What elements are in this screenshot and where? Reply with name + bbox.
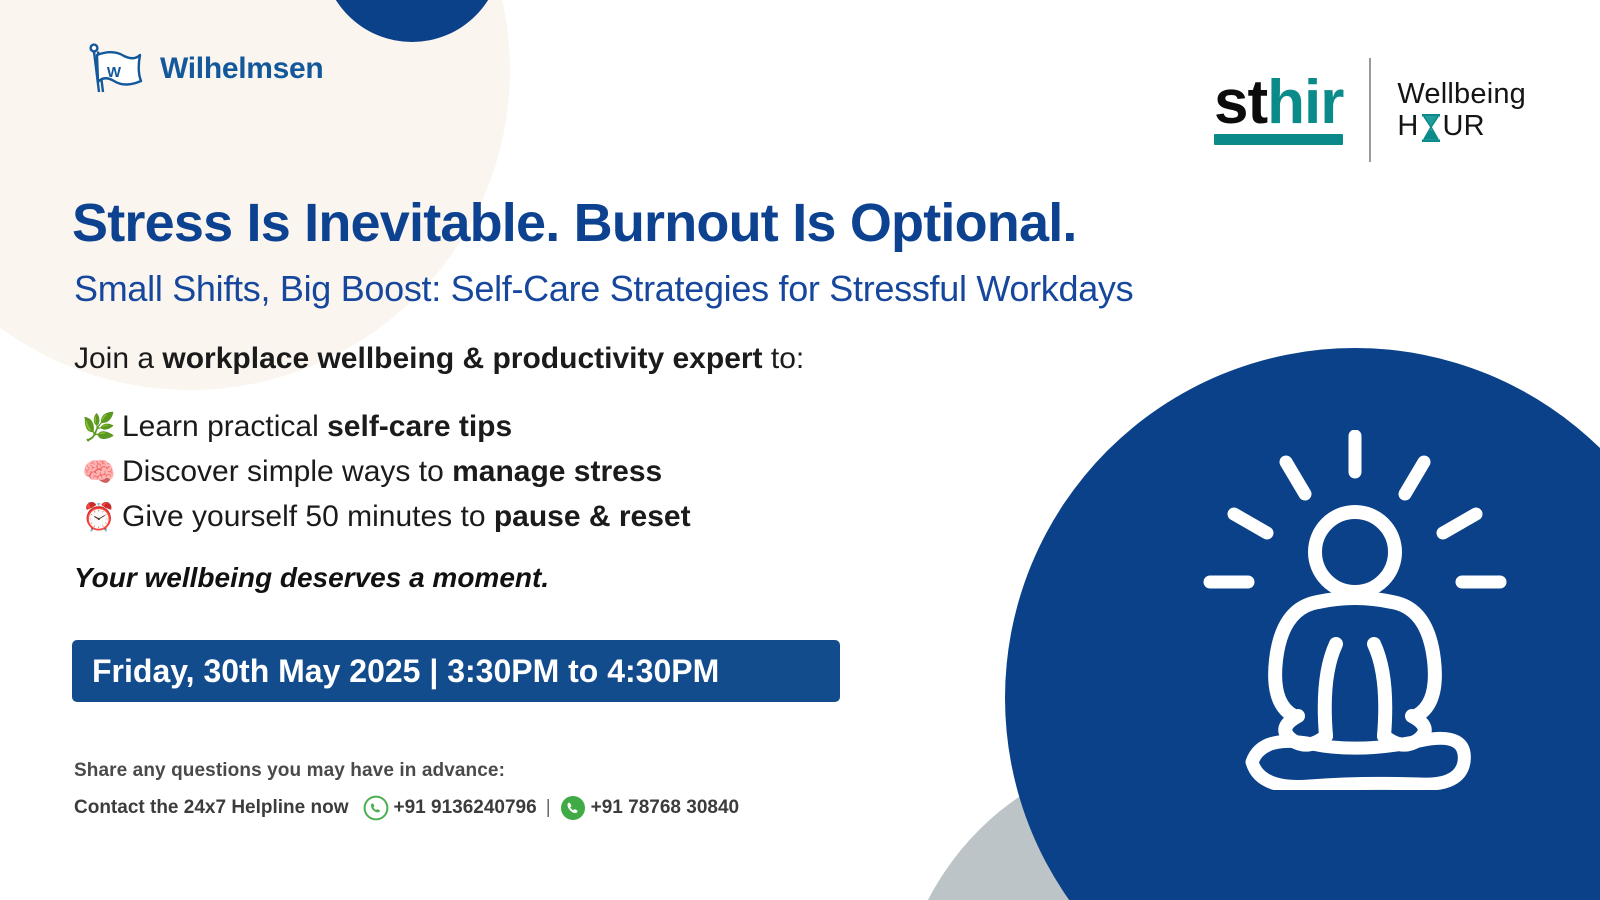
helpline-label: Contact the 24x7 Helpline now (74, 797, 349, 819)
phone-number[interactable]: +91 78768 30840 (591, 797, 739, 819)
phone-icon[interactable] (560, 795, 586, 821)
bullet-bold: manage stress (452, 455, 662, 488)
intro-suffix: to: (763, 342, 805, 375)
alarm-clock-emoji: ⏰ (82, 501, 112, 533)
event-datetime-text: Friday, 30th May 2025 | 3:30PM to 4:30PM (72, 653, 719, 690)
svg-text:W: W (107, 64, 122, 81)
hour-suffix: UR (1443, 110, 1485, 142)
bullet-bold: pause & reset (494, 500, 691, 533)
list-item: ⏰ Give yourself 50 minutes to pause & re… (82, 494, 691, 539)
list-item-text: Discover simple ways to manage stress (122, 455, 662, 489)
list-item-text: Learn practical self-care tips (122, 410, 512, 444)
wilhelmsen-wordmark: Wilhelmsen (160, 54, 323, 84)
herb-emoji: 🌿 (82, 411, 112, 443)
contact-separator: | (546, 797, 551, 819)
bullet-bold: self-care tips (327, 410, 512, 443)
list-item: 🧠 Discover simple ways to manage stress (82, 449, 691, 494)
footer-helpline-row: Contact the 24x7 Helpline now +91 913624… (74, 795, 739, 821)
benefit-list: 🌿 Learn practical self-care tips 🧠 Disco… (82, 404, 691, 539)
wilhelmsen-flag-icon: W (84, 38, 146, 100)
intro-prefix: Join a (74, 342, 162, 375)
sthir-word-part1: st (1214, 68, 1267, 137)
whatsapp-icon[interactable] (363, 795, 389, 821)
wellbeing-text: Wellbeing (1397, 78, 1526, 110)
bullet-prefix: Give yourself 50 minutes to (122, 500, 494, 533)
sthir-word-part2: hir (1267, 68, 1343, 137)
bullet-prefix: Discover simple ways to (122, 455, 452, 488)
sthir-wordmark: sthir (1214, 75, 1343, 145)
bullet-prefix: Learn practical (122, 410, 327, 443)
wilhelmsen-logo: W Wilhelmsen (84, 38, 323, 100)
page-title: Stress Is Inevitable. Burnout Is Optiona… (72, 192, 1077, 254)
brain-emoji: 🧠 (82, 456, 112, 488)
event-datetime-banner: Friday, 30th May 2025 | 3:30PM to 4:30PM (72, 640, 840, 702)
meditating-person-icon (1190, 430, 1520, 790)
wellbeing-hour-label: Wellbeing H UR (1397, 78, 1526, 143)
poster-canvas: W Wilhelmsen sthir Wellbeing H (0, 0, 1600, 900)
footer-contact-block: Share any questions you may have in adva… (74, 760, 739, 821)
footer-questions-label: Share any questions you may have in adva… (74, 760, 739, 782)
hour-prefix: H (1397, 110, 1418, 142)
sthir-wellbeing-hour-logo: sthir Wellbeing H UR (1214, 58, 1526, 162)
list-item-text: Give yourself 50 minutes to pause & rese… (122, 500, 691, 534)
list-item: 🌿 Learn practical self-care tips (82, 404, 691, 449)
page-subtitle: Small Shifts, Big Boost: Self-Care Strat… (74, 268, 1133, 310)
hourglass-icon (1420, 113, 1442, 143)
logo-divider (1369, 58, 1371, 162)
intro-line: Join a workplace wellbeing & productivit… (74, 342, 804, 376)
intro-bold: workplace wellbeing & productivity exper… (162, 342, 762, 375)
whatsapp-number[interactable]: +91 9136240796 (394, 797, 537, 819)
tagline: Your wellbeing deserves a moment. (74, 562, 549, 594)
sthir-underline (1214, 134, 1343, 145)
